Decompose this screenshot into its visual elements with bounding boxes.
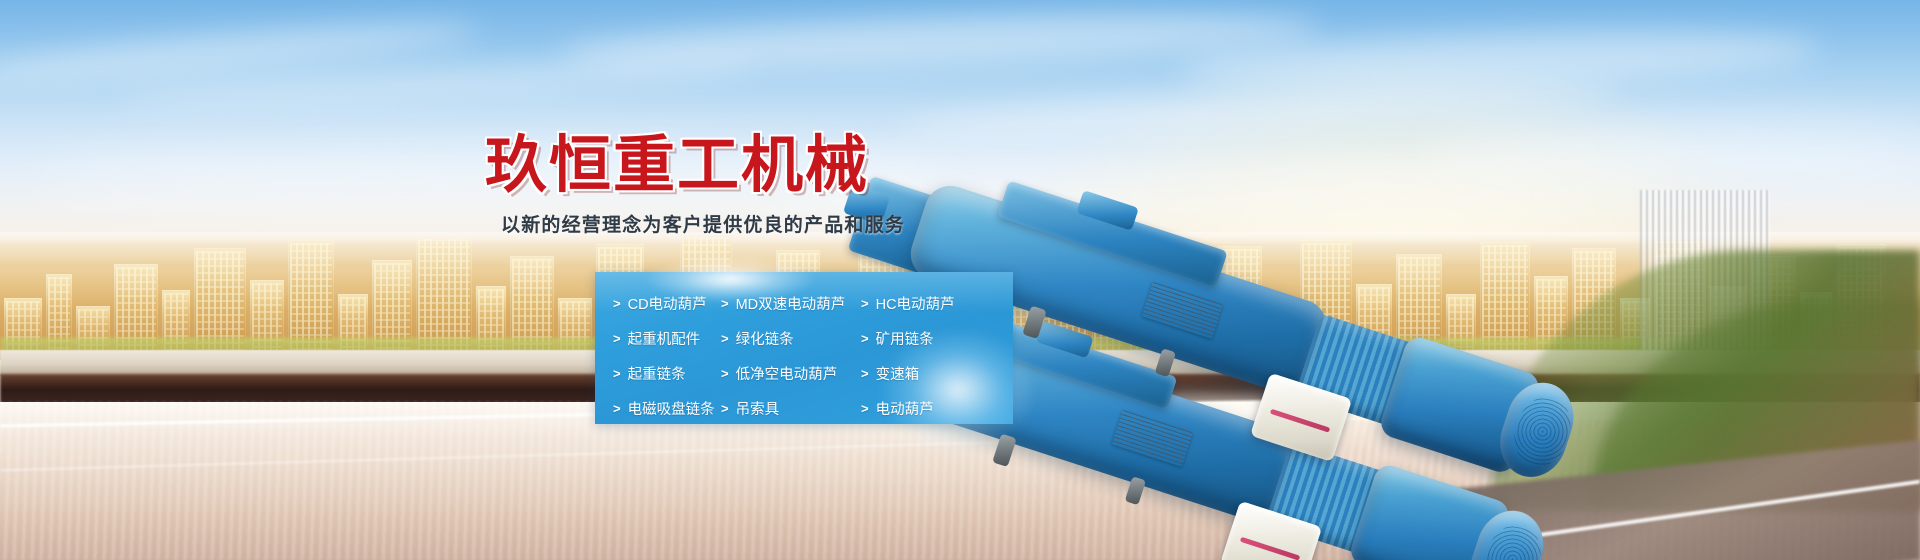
product-links-grid: >CD电动葫芦>MD双速电动葫芦>HC电动葫芦>起重机配件>绿化链条>矿用链条>… [595,272,1013,426]
page-subtitle: 以新的经营理念为客户提供优良的产品和服务 [501,214,905,238]
product-link[interactable]: >CD电动葫芦 [613,293,721,314]
headline-block: 玖恒重工机械 以新的经营理念为客户提供优良的产品和服务 [485,132,905,238]
chevron-right-icon: > [721,332,729,345]
product-link[interactable]: >变速箱 [861,363,1013,384]
product-link-label: CD电动葫芦 [628,293,707,314]
product-link[interactable]: >电磁吸盘链条 [613,398,721,419]
chevron-right-icon: > [721,402,729,415]
chevron-right-icon: > [613,332,621,345]
hero-banner: 玖恒重工机械 以新的经营理念为客户提供优良的产品和服务 >CD电动葫芦>MD双速… [0,0,1920,560]
chevron-right-icon: > [861,402,869,415]
product-link-label: 吊索具 [736,398,780,419]
product-link-label: HC电动葫芦 [876,293,955,314]
product-link-label: 起重机配件 [628,328,701,349]
chevron-right-icon: > [721,367,729,380]
product-link-label: 变速箱 [876,363,920,384]
product-link[interactable]: >电动葫芦 [861,398,1013,419]
product-link[interactable]: >起重链条 [613,363,721,384]
chevron-right-icon: > [613,297,621,310]
chevron-right-icon: > [613,367,621,380]
product-links-panel: >CD电动葫芦>MD双速电动葫芦>HC电动葫芦>起重机配件>绿化链条>矿用链条>… [595,272,1013,424]
chevron-right-icon: > [861,297,869,310]
product-link[interactable]: >起重机配件 [613,328,721,349]
product-link-label: 绿化链条 [736,328,794,349]
chevron-right-icon: > [721,297,729,310]
cloud [1430,120,1920,180]
product-link-label: 电动葫芦 [876,398,934,419]
product-link-label: 矿用链条 [876,328,934,349]
product-link-label: 电磁吸盘链条 [628,398,715,419]
product-link[interactable]: >HC电动葫芦 [861,293,1013,314]
product-link[interactable]: >绿化链条 [721,328,861,349]
chevron-right-icon: > [861,332,869,345]
chevron-right-icon: > [861,367,869,380]
page-title: 玖恒重工机械 [485,132,905,198]
product-link-label: 低净空电动葫芦 [736,363,838,384]
product-link[interactable]: >矿用链条 [861,328,1013,349]
product-link-label: MD双速电动葫芦 [736,293,846,314]
product-link[interactable]: >MD双速电动葫芦 [721,293,861,314]
product-link-label: 起重链条 [628,363,686,384]
product-link[interactable]: >吊索具 [721,398,861,419]
chevron-right-icon: > [613,402,621,415]
product-link[interactable]: >低净空电动葫芦 [721,363,861,384]
